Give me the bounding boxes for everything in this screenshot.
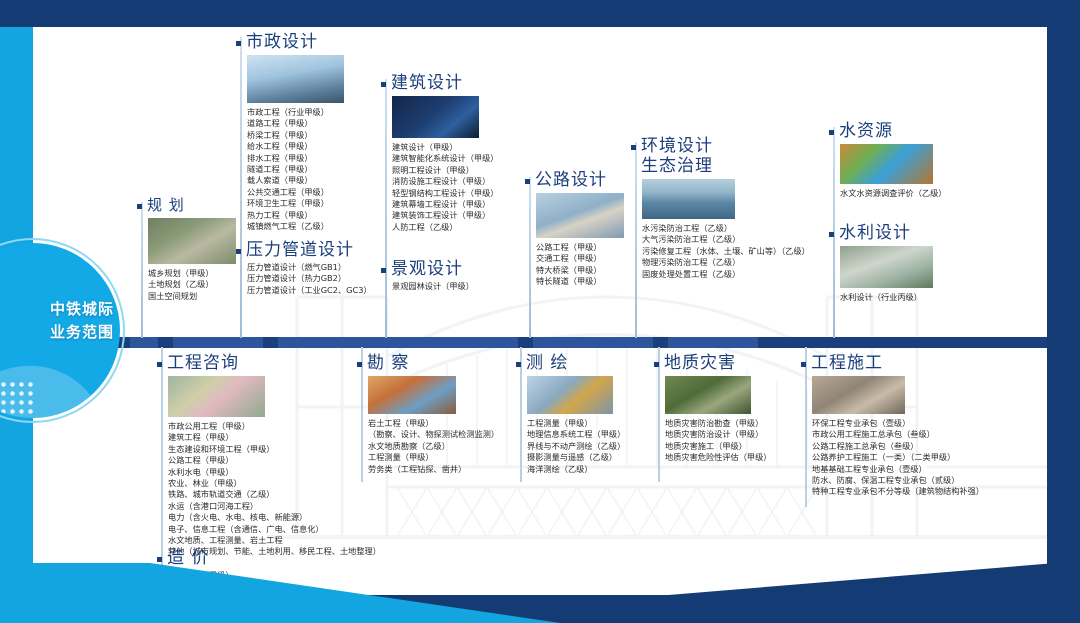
- block-title: 地质灾害: [664, 353, 736, 373]
- total-station-photo: [527, 376, 613, 414]
- list-item: 国土空间规划: [148, 291, 237, 302]
- list-item: 建筑装饰工程设计（甲级）: [392, 210, 531, 221]
- block-water-conservancy-design: 水利设计 水利设计（行业丙级）: [829, 223, 979, 303]
- list-item: 海洋测绘（乙级）: [527, 464, 666, 475]
- list-item: 地基基础工程专业承包（壹级）: [812, 464, 1047, 475]
- list-item: 建筑智能化系统设计（甲级）: [392, 153, 531, 164]
- list-item: 压力管道设计（热力GB2）: [247, 273, 386, 284]
- list-item: 界线与不动产测绘（乙级）: [527, 441, 666, 452]
- item-list: 景观园林设计（甲级）: [392, 281, 531, 292]
- block-water-resources: 水资源 水文水资源调查评价（乙级）: [829, 121, 979, 199]
- block-title: 建筑设计: [391, 73, 463, 93]
- item-list: 水文水资源调查评价（乙级）: [840, 188, 979, 199]
- list-item: 城镇燃气工程（乙级）: [247, 221, 386, 232]
- block-title: 景观设计: [391, 259, 463, 279]
- list-item: 摄影测量与遥感（乙级）: [527, 452, 666, 463]
- block-survey: 勘 察 岩土工程（甲级） （勘察、设计、物探测试检测监测） 水文地质勘察（乙级）…: [357, 353, 517, 475]
- block-architectural-design: 建筑设计 建筑设计（甲级） 建筑智能化系统设计（甲级） 照明工程设计（甲级） 消…: [381, 73, 531, 233]
- land-planning-photo: [168, 376, 265, 417]
- bullet-icon: [381, 268, 386, 273]
- block-title: 勘 察: [367, 353, 409, 373]
- list-item: 工程测量（甲级）: [527, 418, 666, 429]
- bullet-icon: [236, 41, 241, 46]
- list-item: 道路工程（甲级）: [247, 118, 386, 129]
- list-item: 公共交通工程（甲级）: [247, 187, 386, 198]
- bullet-icon: [525, 179, 530, 184]
- list-item: 水污染防治工程（乙级）: [642, 223, 841, 234]
- list-item: 景观园林设计（甲级）: [392, 281, 531, 292]
- list-item: 城乡规划（甲级）: [148, 268, 237, 279]
- list-item: 照明工程设计（甲级）: [392, 165, 531, 176]
- list-item: 地理信息系统工程（甲级）: [527, 429, 666, 440]
- bullet-icon: [236, 249, 241, 254]
- list-item: 市政工程（行业甲级）: [247, 107, 386, 118]
- list-item: 地质灾害危险性评估（甲级）: [665, 452, 814, 463]
- hydrology-map-photo: [840, 144, 933, 184]
- construction-site-photo: [812, 376, 905, 414]
- block-planning: 规 划 城乡规划（甲级） 土地规划（乙级） 国土空间规划: [137, 195, 237, 302]
- blue-architecture-photo: [392, 96, 479, 138]
- bullet-icon: [829, 130, 834, 135]
- block-pressure-pipeline-design: 压力管道设计 压力管道设计（燃气GB1） 压力管道设计（热力GB2） 压力管道设…: [236, 240, 386, 296]
- list-item: 防水、防腐、保温工程专业承包（贰级）: [812, 475, 1047, 486]
- list-item: 消防设施工程设计（甲级）: [392, 176, 531, 187]
- list-item: 铁路、城市轨道交通（乙级）: [168, 489, 397, 500]
- list-item: 固废处理处置工程（乙级）: [642, 269, 841, 280]
- list-item: 水利设计（行业丙级）: [840, 292, 979, 303]
- block-title: 公路设计: [535, 170, 607, 190]
- center-label-line2: 业务范围: [22, 321, 142, 344]
- list-item: 建筑幕墙工程设计（甲级）: [392, 199, 531, 210]
- list-item: 轻型钢结构工程设计（甲级）: [392, 188, 531, 199]
- block-municipal-design: 市政设计 市政工程（行业甲级） 道路工程（甲级） 桥梁工程（甲级） 给水工程（甲…: [236, 32, 386, 232]
- timeline-bar: [118, 337, 1047, 348]
- list-item: 土地规划（乙级）: [148, 279, 237, 290]
- item-list: 公路工程（甲级） 交通工程（甲级） 特大桥梁（甲级） 特长隧道（甲级）: [536, 242, 645, 288]
- bullet-icon: [829, 232, 834, 237]
- list-item: 压力管道设计（燃气GB1）: [247, 262, 386, 273]
- left-accent-bar-top-cap: [0, 0, 33, 27]
- infographic-page: 规 划 城乡规划（甲级） 土地规划（乙级） 国土空间规划 市政设计 市政工程（行…: [0, 0, 1080, 623]
- block-title: 工程咨询: [167, 353, 239, 373]
- bullet-icon: [654, 362, 659, 367]
- list-item: 排水工程（甲级）: [247, 153, 386, 164]
- list-item: 特大桥梁（甲级）: [536, 265, 645, 276]
- item-list: 压力管道设计（燃气GB1） 压力管道设计（热力GB2） 压力管道设计（工业GC2…: [247, 262, 386, 296]
- hillside-green-photo: [665, 376, 751, 414]
- list-item: 电子、信息工程（含通信、广电、信息化）: [168, 524, 397, 535]
- block-mapping: 测 绘 工程测量（甲级） 地理信息系统工程（甲级） 界线与不动产测绘（乙级） 摄…: [516, 353, 666, 475]
- list-item: 人防工程（乙级）: [392, 222, 531, 233]
- list-item: 特种工程专业承包不分等级（建筑物结构补强）: [812, 486, 1047, 497]
- bullet-icon: [357, 362, 362, 367]
- bullet-icon: [157, 362, 162, 367]
- block-title: 造 价: [167, 548, 209, 568]
- block-environmental-design: 环境设计 生态治理 水污染防治工程（乙级） 大气污染防治工程（乙级） 污染修复工…: [631, 136, 841, 280]
- bullet-icon: [381, 82, 386, 87]
- item-list: 建筑设计（甲级） 建筑智能化系统设计（甲级） 照明工程设计（甲级） 消防设施工程…: [392, 142, 531, 233]
- white-canvas: 规 划 城乡规划（甲级） 土地规划（乙级） 国土空间规划 市政设计 市政工程（行…: [33, 27, 1047, 595]
- item-list: 市政工程（行业甲级） 道路工程（甲级） 桥梁工程（甲级） 给水工程（甲级） 排水…: [247, 107, 386, 232]
- list-item: 地质灾害施工（甲级）: [665, 441, 814, 452]
- list-item: 水文地质、工程测量、岩土工程: [168, 535, 397, 546]
- block-landscape-design: 景观设计 景观园林设计（甲级）: [381, 259, 531, 292]
- list-item: 公路工程施工总承包（叁级）: [812, 441, 1047, 452]
- list-item: （勘察、设计、物探测试检测监测）: [368, 429, 517, 440]
- block-title: 压力管道设计: [246, 240, 354, 260]
- bullet-icon: [516, 362, 521, 367]
- item-list: 岩土工程（甲级） （勘察、设计、物探测试检测监测） 水文地质勘察（乙级） 工程测…: [368, 418, 517, 475]
- list-item: 公路养护工程施工（一类）（二类甲级）: [812, 452, 1047, 463]
- block-highway-design: 公路设计 公路工程（甲级） 交通工程（甲级） 特大桥梁（甲级） 特长隧道（甲级）: [525, 170, 645, 288]
- field-survey-photo: [368, 376, 456, 414]
- item-list: 水污染防治工程（乙级） 大气污染防治工程（乙级） 污染修复工程（水体、土壤、矿山…: [642, 223, 841, 280]
- list-item: 水运（含港口河海工程）: [168, 501, 397, 512]
- lake-water-photo: [642, 179, 735, 219]
- block-title: 水资源: [839, 121, 893, 141]
- list-item: 岩土工程（甲级）: [368, 418, 517, 429]
- list-item: 交通工程（甲级）: [536, 253, 645, 264]
- list-item: 水文水资源调查评价（乙级）: [840, 188, 979, 199]
- list-item: 特长隧道（甲级）: [536, 276, 645, 287]
- list-item: 市政公用工程施工总承包（叁级）: [812, 429, 1047, 440]
- center-label: 中铁城际 业务范围: [22, 298, 142, 344]
- bridge-photo: [536, 193, 624, 238]
- block-title: 规 划: [147, 195, 185, 215]
- list-item: 热力工程（甲级）: [247, 210, 386, 221]
- list-item: 隧道工程（甲级）: [247, 164, 386, 175]
- center-label-line1: 中铁城际: [22, 298, 142, 321]
- dam-photo: [840, 246, 933, 288]
- aerial-town-photo: [148, 218, 236, 264]
- list-item: 物理污染防治工程（乙级）: [642, 257, 841, 268]
- list-item: 建筑设计（甲级）: [392, 142, 531, 153]
- list-item: 环境卫生工程（甲级）: [247, 198, 386, 209]
- list-item: 桥梁工程（甲级）: [247, 130, 386, 141]
- list-item: 载人索道（甲级）: [247, 175, 386, 186]
- list-item: 环保工程专业承包（壹级）: [812, 418, 1047, 429]
- list-item: 给水工程（甲级）: [247, 141, 386, 152]
- block-title: 测 绘: [526, 353, 568, 373]
- item-list: 地质灾害防治勘查（甲级） 地质灾害防治设计（甲级） 地质灾害施工（甲级） 地质灾…: [665, 418, 814, 464]
- list-item: 工程测量（甲级）: [368, 452, 517, 463]
- list-item: 大气污染防治工程（乙级）: [642, 234, 841, 245]
- city-road-photo: [247, 55, 344, 103]
- list-item: 地质灾害防治设计（甲级）: [665, 429, 814, 440]
- list-item: 压力管道设计（工业GC2、GC3）: [247, 285, 386, 296]
- list-item: 电力（含火电、水电、核电、新能源）: [168, 512, 397, 523]
- list-item: 污染修复工程（水体、土壤、矿山等）（乙级）: [642, 246, 841, 257]
- block-title: 市政设计: [246, 32, 318, 52]
- list-item: 地质灾害防治勘查（甲级）: [665, 418, 814, 429]
- list-item: 水文地质勘察（乙级）: [368, 441, 517, 452]
- list-item: 劳务类（工程钻探、凿井）: [368, 464, 517, 475]
- block-engineering-construction: 工程施工 环保工程专业承包（壹级） 市政公用工程施工总承包（叁级） 公路工程施工…: [801, 353, 1047, 498]
- list-item: 农业、林业（甲级）: [168, 478, 397, 489]
- block-title: 工程施工: [811, 353, 883, 373]
- list-item: 公路工程（甲级）: [536, 242, 645, 253]
- block-title: 水利设计: [839, 223, 911, 243]
- bullet-icon: [631, 145, 636, 150]
- bullet-icon: [801, 362, 806, 367]
- block-geological-hazard: 地质灾害 地质灾害防治勘查（甲级） 地质灾害防治设计（甲级） 地质灾害施工（甲级…: [654, 353, 814, 464]
- dot-pattern: [0, 380, 35, 414]
- bullet-icon: [157, 557, 162, 562]
- item-list: 水利设计（行业丙级）: [840, 292, 979, 303]
- item-list: 城乡规划（甲级） 土地规划（乙级） 国土空间规划: [148, 268, 237, 302]
- bullet-icon: [137, 204, 142, 209]
- block-title: 环境设计 生态治理: [641, 136, 713, 176]
- item-list: 工程测量（甲级） 地理信息系统工程（甲级） 界线与不动产测绘（乙级） 摄影测量与…: [527, 418, 666, 475]
- item-list: 环保工程专业承包（壹级） 市政公用工程施工总承包（叁级） 公路工程施工总承包（叁…: [812, 418, 1047, 498]
